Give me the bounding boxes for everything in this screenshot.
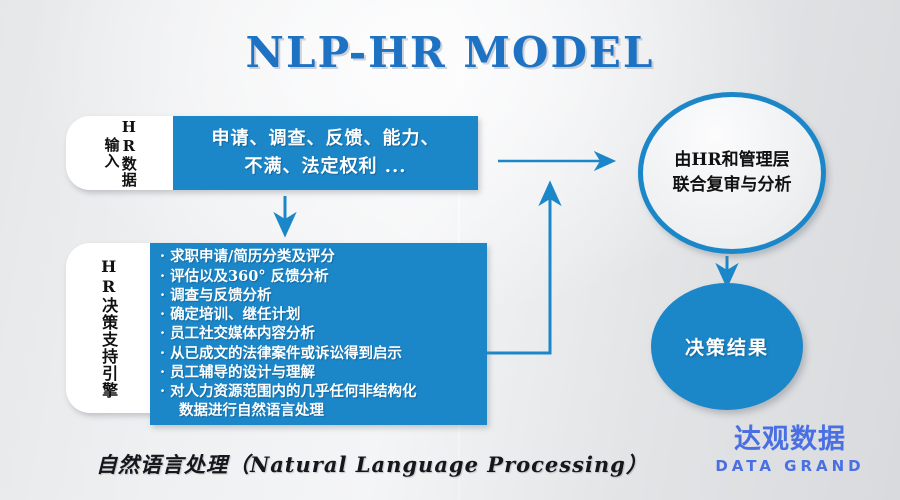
input-box-line-1: 申请、调查、反馈、能力、	[212, 125, 440, 153]
review-circle: 由HR和管理层 联合复审与分析	[638, 92, 826, 254]
list-item: ·确定培训、继任计划	[160, 305, 481, 324]
arrow-engine-to-review	[476, 184, 550, 353]
bullet-icon: ·	[160, 267, 165, 286]
engine-box-content: ·求职申请/简历分类及评分 ·评估以及360° 反馈分析 ·调查与反馈分析 ·确…	[150, 243, 487, 425]
input-box-line-2: 不满、法定权利 ...	[244, 153, 406, 181]
brand-logo-en: DATA GRAND	[700, 459, 880, 474]
review-circle-line-1: 由HR和管理层	[673, 148, 792, 173]
review-circle-line-2: 联合复审与分析	[673, 173, 792, 198]
hr-decision-engine-box: HR决策支持引擎 ·求职申请/简历分类及评分 ·评估以及360° 反馈分析 ·调…	[66, 243, 487, 425]
input-box-content: 申请、调查、反馈、能力、 不满、法定权利 ...	[173, 116, 478, 190]
list-item-text: 数据进行自然语言处理	[160, 401, 324, 420]
brand-logo: 达观数据 DATA GRAND	[700, 426, 880, 474]
list-item: ·从已成文的法律案件或诉讼得到启示	[160, 344, 481, 363]
list-item: ·员工辅导的设计与理解	[160, 363, 481, 382]
list-item-text: 员工辅导的设计与理解	[170, 363, 315, 382]
list-item-text: 从已成文的法律案件或诉讼得到启示	[170, 344, 402, 363]
list-item-text: 确定培训、继任计划	[170, 305, 301, 324]
bullet-icon: ·	[160, 324, 165, 343]
bullet-icon: ·	[160, 344, 165, 363]
list-item: ·员工社交媒体内容分析	[160, 324, 481, 343]
list-item-text: 调查与反馈分析	[170, 286, 272, 305]
result-circle: 决策结果	[651, 283, 803, 410]
engine-capability-list: ·求职申请/简历分类及评分 ·评估以及360° 反馈分析 ·调查与反馈分析 ·确…	[150, 247, 487, 421]
input-data-box: 输入 HR数据 申请、调查、反馈、能力、 不满、法定权利 ...	[66, 116, 478, 190]
slide-canvas: NLP-HR MODEL 输入 HR数据 申请、调查、反馈、能力、 不满、法定权…	[0, 0, 900, 500]
input-box-label-left: 输入	[103, 137, 118, 169]
list-item: ·调查与反馈分析	[160, 286, 481, 305]
bullet-icon: ·	[160, 363, 165, 382]
caption-text: 自然语言处理（Natural Language Processing）	[96, 449, 648, 479]
result-circle-label: 决策结果	[685, 333, 769, 360]
brand-logo-cn: 达观数据	[700, 426, 880, 453]
engine-box-label: HR决策支持引擎	[100, 257, 116, 399]
list-item-text: 求职申请/简历分类及评分	[170, 247, 335, 266]
list-item: ·对人力资源范围内的几乎任何非结构化	[160, 382, 481, 401]
list-item-text: 员工社交媒体内容分析	[170, 324, 315, 343]
list-item-text: 对人力资源范围内的几乎任何非结构化	[170, 382, 417, 401]
input-box-label-right: HR数据	[121, 118, 136, 188]
list-item: ·评估以及360° 反馈分析	[160, 267, 481, 286]
engine-box-label-pane: HR决策支持引擎	[66, 243, 150, 413]
list-item-continuation: 数据进行自然语言处理	[160, 401, 481, 420]
bullet-icon: ·	[160, 286, 165, 305]
review-circle-text: 由HR和管理层 联合复审与分析	[673, 148, 792, 197]
bullet-icon: ·	[160, 382, 165, 401]
list-item-text: 评估以及360° 反馈分析	[170, 267, 329, 286]
list-item: ·求职申请/简历分类及评分	[160, 247, 481, 266]
input-box-label-pane: 输入 HR数据	[66, 116, 173, 190]
bullet-icon: ·	[160, 247, 165, 266]
bullet-icon: ·	[160, 305, 165, 324]
